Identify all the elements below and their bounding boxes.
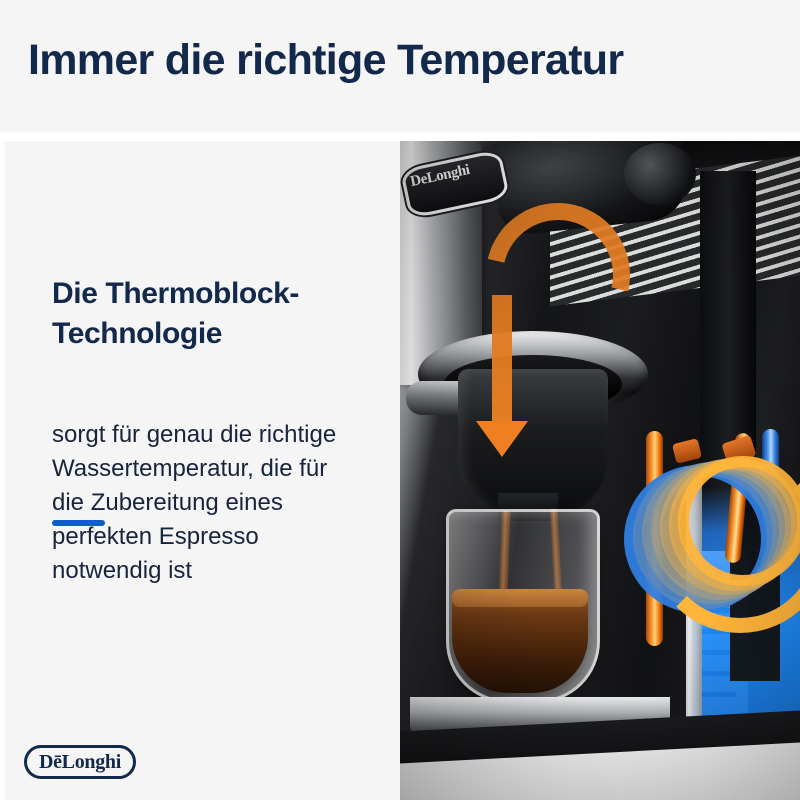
header-divider-gap (0, 132, 800, 141)
brand-logo: DēLonghi (24, 745, 136, 779)
espresso-crema (452, 589, 588, 607)
page-title: Immer die richtige Temperatur (28, 33, 623, 87)
text-column: Die Thermoblock-Technologie sorgt für ge… (0, 141, 400, 800)
machine-motor-cap (624, 143, 696, 205)
logo-wordmark: DēLonghi (24, 745, 136, 779)
thermoblock-coil (616, 439, 800, 619)
header-band: Immer die richtige Temperatur (0, 0, 800, 132)
feature-subtitle: Die Thermoblock-Technologie (52, 274, 372, 354)
product-illustration: DeLonghi (400, 141, 800, 800)
flow-direction-arrow-icon (478, 203, 618, 453)
promo-page: Immer die richtige Temperatur Die Thermo… (0, 0, 800, 800)
arrow-head (476, 421, 528, 457)
arrow-shaft (492, 295, 512, 431)
feature-description: sorgt für genau die richtige Wassertempe… (52, 418, 352, 588)
left-edge-strip (0, 141, 5, 800)
